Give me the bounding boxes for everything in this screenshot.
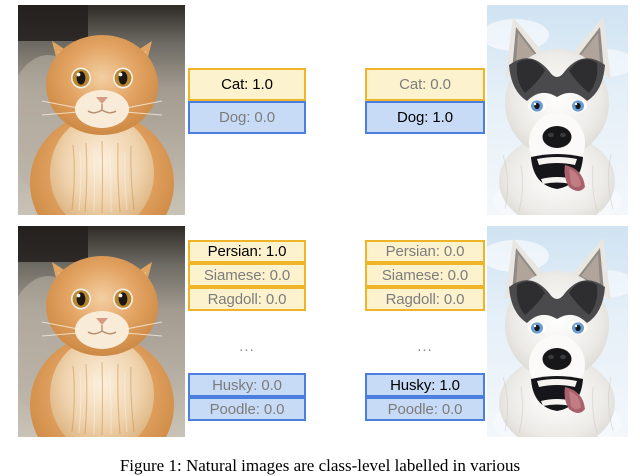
- label-siamese-bottom-right[interactable]: Siamese: 0.0: [365, 263, 485, 287]
- cat-image-top-left: [18, 5, 185, 215]
- label-text: Cat: 1.0: [221, 77, 273, 92]
- label-ragdoll-bottom-left[interactable]: Ragdoll: 0.0: [188, 287, 306, 311]
- label-husky-bottom-left[interactable]: Husky: 0.0: [188, 373, 306, 397]
- label-dog-top-left[interactable]: Dog: 0.0: [188, 101, 306, 134]
- figure-caption: Figure 1: Natural images are class-level…: [0, 456, 640, 476]
- label-text: Siamese: 0.0: [204, 268, 290, 283]
- label-text: Cat: 0.0: [399, 77, 451, 92]
- label-column-bottom-right: Persian: 0.0 Siamese: 0.0 Ragdoll: 0.0: [365, 240, 485, 311]
- label-column-bottom-left: Persian: 1.0 Siamese: 0.0 Ragdoll: 0.0: [188, 240, 306, 311]
- label-column-bottom-right-lower: Husky: 1.0 Poodle: 0.0: [365, 373, 485, 421]
- label-poodle-bottom-left[interactable]: Poodle: 0.0: [188, 397, 306, 421]
- label-text: Ragdoll: 0.0: [208, 292, 287, 307]
- ellipsis-bottom-right: ...: [365, 338, 485, 355]
- ellipsis-bottom-left: ...: [188, 338, 306, 355]
- label-persian-bottom-left[interactable]: Persian: 1.0: [188, 240, 306, 263]
- dog-image-bottom-right: [487, 226, 628, 437]
- label-husky-bottom-right[interactable]: Husky: 1.0: [365, 373, 485, 397]
- label-text: Dog: 1.0: [397, 110, 453, 125]
- label-text: Persian: 1.0: [208, 244, 287, 259]
- cat-image-bottom-left: [18, 226, 185, 437]
- label-text: Ragdoll: 0.0: [386, 292, 465, 307]
- label-text: Siamese: 0.0: [382, 268, 468, 283]
- label-text: Dog: 0.0: [219, 110, 275, 125]
- label-cat-top-left[interactable]: Cat: 1.0: [188, 68, 306, 101]
- label-dog-top-right[interactable]: Dog: 1.0: [365, 101, 485, 134]
- label-ragdoll-bottom-right[interactable]: Ragdoll: 0.0: [365, 287, 485, 311]
- dog-image-top-right: [487, 5, 628, 215]
- label-text: Poodle: 0.0: [210, 402, 285, 417]
- label-column-top-left: Cat: 1.0 Dog: 0.0: [188, 68, 306, 134]
- label-text: Poodle: 0.0: [388, 402, 463, 417]
- label-column-top-right: Cat: 0.0 Dog: 1.0: [365, 68, 485, 134]
- label-poodle-bottom-right[interactable]: Poodle: 0.0: [365, 397, 485, 421]
- label-text: Persian: 0.0: [386, 244, 465, 259]
- figure-container: Cat: 1.0 Dog: 0.0 Cat: 0.0 Dog: 1.0: [0, 0, 640, 474]
- label-text: Husky: 1.0: [390, 378, 460, 393]
- label-persian-bottom-right[interactable]: Persian: 0.0: [365, 240, 485, 263]
- label-text: Husky: 0.0: [212, 378, 282, 393]
- label-cat-top-right[interactable]: Cat: 0.0: [365, 68, 485, 101]
- label-column-bottom-left-lower: Husky: 0.0 Poodle: 0.0: [188, 373, 306, 421]
- label-siamese-bottom-left[interactable]: Siamese: 0.0: [188, 263, 306, 287]
